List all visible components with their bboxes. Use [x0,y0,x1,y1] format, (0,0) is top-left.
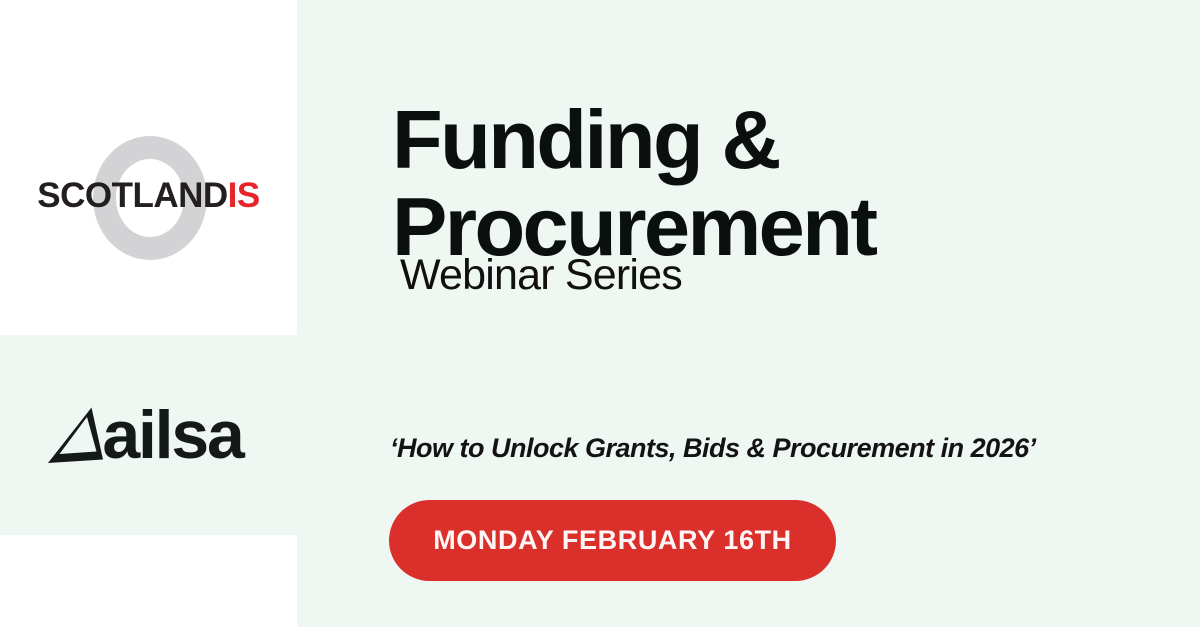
webinar-promo-banner: SCOTLANDIS ailsa Funding & Procurement W… [0,0,1200,627]
brand-logo-column: SCOTLANDIS ailsa [0,0,297,627]
main-content: Funding & Procurement Webinar Series ‘Ho… [297,0,1200,627]
ailsa-wordmark: ailsa [102,401,242,469]
tagline: ‘How to Unlock Grants, Bids & Procuremen… [390,432,1036,464]
date-badge-label: MONDAY FEBRUARY 16TH [433,525,792,556]
scotlandis-wordmark-red: IS [228,176,260,215]
scotlandis-logo: SCOTLANDIS [0,0,297,335]
scotlandis-wordmark: SCOTLANDIS [0,176,297,216]
bottom-white-panel [0,535,297,627]
triangle-mark-icon [46,404,104,466]
subtitle: Webinar Series [400,250,682,300]
headline-line-1: Funding & [392,96,1182,183]
ailsa-logo: ailsa [0,335,297,535]
scotlandis-wordmark-dark: SCOTLAND [37,176,227,215]
page-title: Funding & Procurement [392,96,1182,270]
date-badge-button[interactable]: MONDAY FEBRUARY 16TH [389,500,836,581]
